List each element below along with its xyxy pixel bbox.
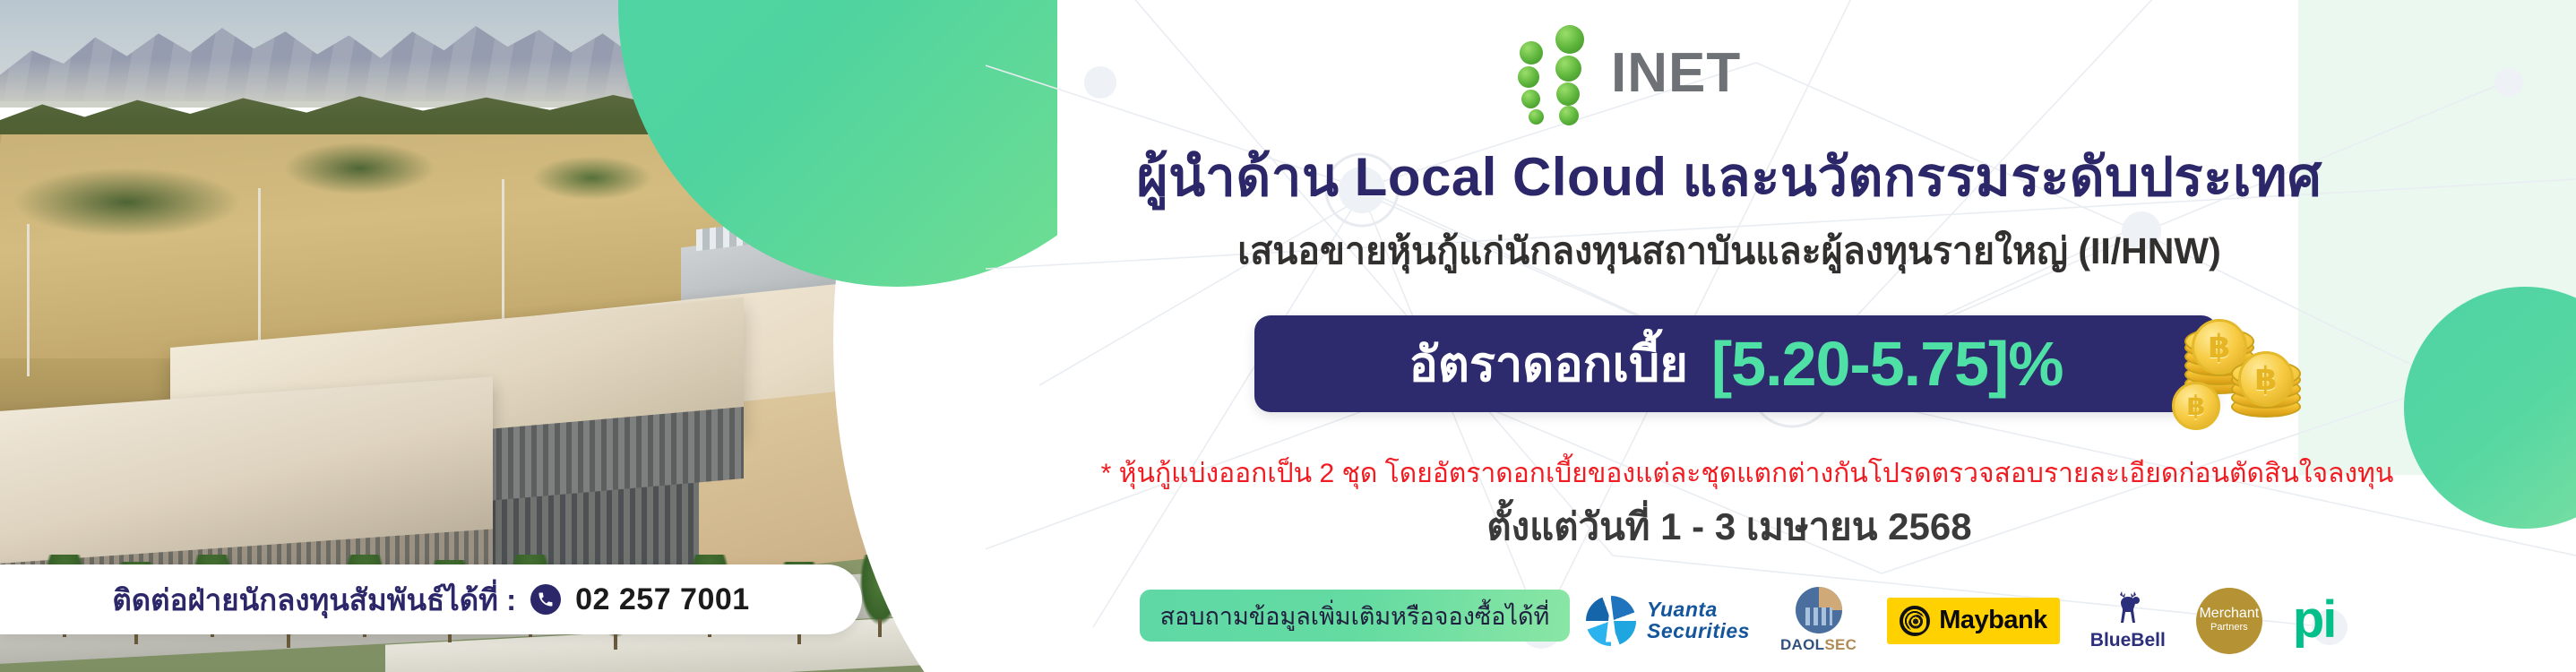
merchant-line2: Partners (2210, 621, 2248, 634)
phone-icon (530, 584, 561, 615)
inet-logo[interactable]: INET (1505, 20, 1828, 102)
cta-button[interactable]: สอบถามข้อมูลเพิ่มเติมหรือจองซื้อได้ที่ (1140, 590, 1570, 642)
investor-relations-contact[interactable]: ติดต่อฝ่ายนักลงทุนสัมพันธ์ได้ที่ : 02 25… (0, 564, 862, 634)
inet-dots-logo-icon (1505, 20, 1613, 102)
bluebell-wordmark: BlueBell (2090, 630, 2166, 651)
interest-rate-label: อัตราดอกเบี้ย (1409, 325, 1687, 402)
broker-logo-bluebell[interactable]: BlueBell (2090, 585, 2166, 657)
merchant-line1: Merchant (2199, 607, 2259, 621)
inet-logo-text: INET (1611, 41, 1741, 105)
bluebell-stag-icon (2108, 590, 2148, 628)
yuanta-line2: Securities (1647, 621, 1750, 642)
broker-logo-row: Yuanta Securities DAOLSEC Maybank (1586, 582, 2335, 659)
content-area: INET ผู้นำด้าน Local Cloud และนวัตกรรมระ… (986, 0, 2576, 672)
daol-line1: DAOL (1780, 636, 1824, 653)
broker-logo-maybank[interactable]: Maybank (1887, 598, 2060, 644)
page-title: ผู้นำด้าน Local Cloud และนวัตกรรมระดับปร… (986, 134, 2473, 220)
contact-phone-number: 02 257 7001 (575, 582, 750, 617)
bottom-bar: สอบถามข้อมูลเพิ่มเติมหรือจองซื้อได้ที่ Y… (986, 582, 2576, 659)
broker-logo-yuanta[interactable]: Yuanta Securities (1586, 585, 1750, 657)
utility-pole (258, 188, 261, 354)
broker-logo-pi[interactable]: pi (2293, 585, 2336, 657)
interest-rate-box: อัตราดอกเบี้ย [5.20-5.75]% (1254, 315, 2218, 412)
maybank-tiger-icon (1900, 606, 1930, 636)
broker-logo-daol[interactable]: DAOLSEC (1780, 585, 1857, 657)
gold-coin-stack-icon: ฿ ฿ ฿ (2168, 287, 2312, 421)
cta-label: สอบถามข้อมูลเพิ่มเติมหรือจองซื้อได้ที่ (1160, 597, 1550, 635)
page-subtitle: เสนอขายหุ้นกู้แก่นักลงทุนสถาบันและผู้ลงท… (986, 222, 2473, 280)
broker-logo-merchant-partners[interactable]: Merchant Partners (2196, 588, 2262, 654)
disclaimer-text: * หุ้นกู้แบ่งออกเป็น 2 ชุด โดยอัตราดอกเบ… (986, 452, 2509, 495)
pi-wordmark-icon: pi (2293, 599, 2336, 641)
yuanta-line1: Yuanta (1647, 599, 1750, 620)
promo-banner: INET ผู้นำด้าน Local Cloud และนวัตกรรมระ… (0, 0, 2576, 672)
daol-circle-icon (1796, 587, 1842, 633)
contact-label: ติดต่อฝ่ายนักลงทุนสัมพันธ์ได้ที่ : (112, 576, 516, 624)
daol-line2: SEC (1824, 636, 1857, 653)
utility-pole (502, 179, 504, 336)
maybank-wordmark: Maybank (1939, 606, 2047, 635)
utility-pole (27, 224, 30, 376)
interest-rate-value: [5.20-5.75]% (1711, 328, 2063, 400)
yuanta-star-icon (1586, 596, 1636, 646)
offering-date-range: ตั้งแต่วันที่ 1 - 3 เมษายน 2568 (986, 497, 2473, 556)
